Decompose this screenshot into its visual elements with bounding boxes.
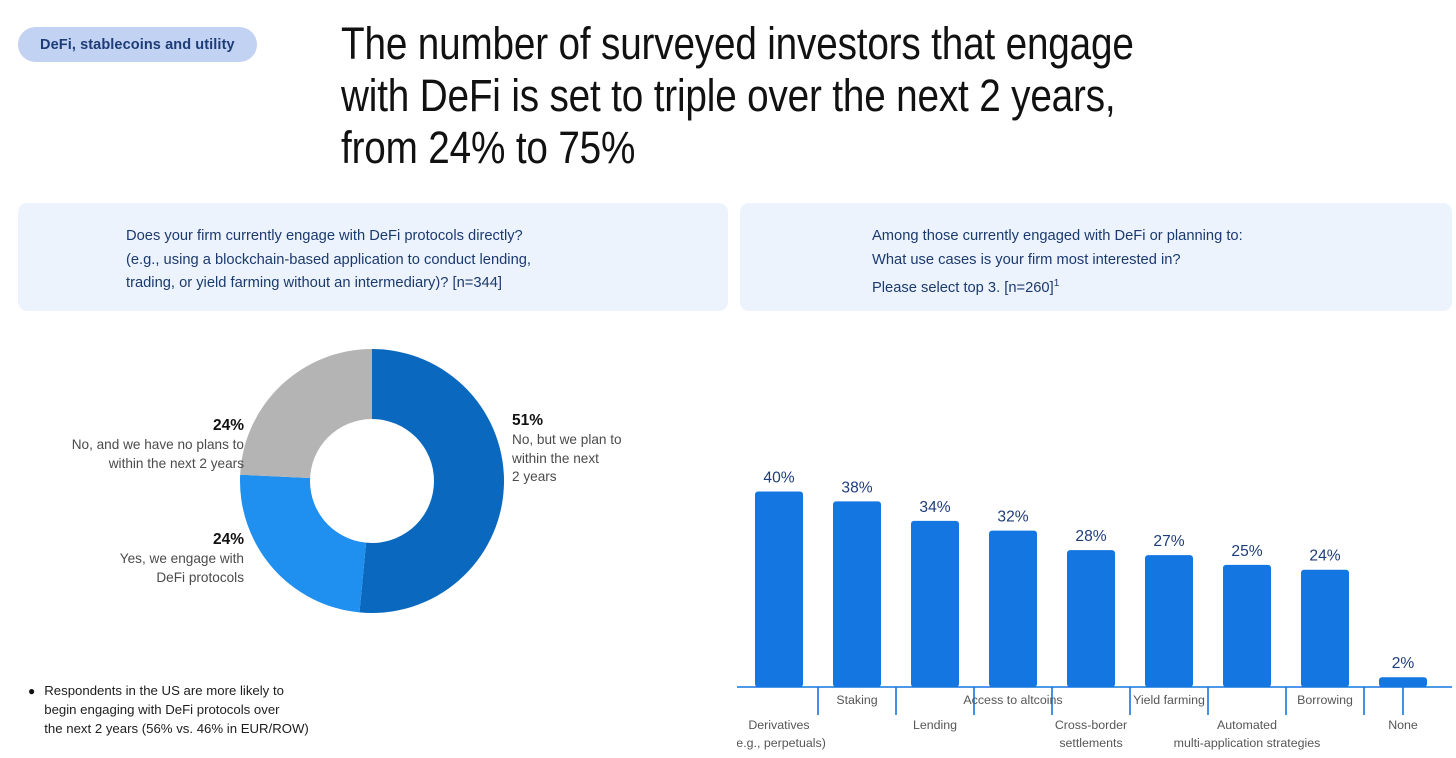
footnote-marker: 1 — [1054, 278, 1060, 289]
donut-label-no-plans-value: 24% — [12, 415, 244, 436]
donut-label-plan-to-text: No, but we plan to within the next 2 yea… — [512, 431, 672, 487]
svg-text:Automated: Automated — [1217, 718, 1277, 732]
svg-text:(e.g., perpetuals): (e.g., perpetuals) — [737, 736, 826, 750]
donut-label-plan-to: 51% No, but we plan to within the next 2… — [512, 410, 672, 487]
donut-label-yes: 24% Yes, we engage with DeFi protocols — [12, 529, 244, 587]
x-axis-category-label: Yield farming — [1133, 693, 1205, 707]
x-axis-category-label: Lending — [913, 718, 957, 732]
bar — [1301, 570, 1349, 687]
svg-text:settlements: settlements — [1059, 736, 1122, 750]
bar — [1379, 677, 1427, 687]
section-badge-label: DeFi, stablecoins and utility — [40, 37, 235, 53]
svg-text:Derivatives: Derivatives — [748, 718, 809, 732]
svg-text:None: None — [1388, 718, 1418, 732]
donut-label-no-plans: 24% No, and we have no plans to within t… — [12, 415, 244, 473]
question-box-left: Does your firm currently engage with DeF… — [18, 203, 728, 311]
question-right-line2: What use cases is your firm most interes… — [872, 252, 1181, 268]
donut-chart — [238, 347, 506, 615]
svg-text:Access to altcoins: Access to altcoins — [963, 693, 1062, 707]
x-axis-category-label: Cross-bordersettlements — [1055, 718, 1127, 750]
bar — [1145, 555, 1193, 687]
bar — [833, 501, 881, 687]
bar-value-label: 24% — [1309, 548, 1340, 565]
bar — [1223, 565, 1271, 687]
bar-chart-svg: 40%38%34%32%28%27%25%24%2% Derivatives(e… — [737, 440, 1452, 758]
bar-value-label: 28% — [1075, 528, 1106, 545]
x-axis-category-label: Borrowing — [1297, 693, 1353, 707]
x-axis-category-label: Staking — [836, 693, 877, 707]
donut-label-plan-to-value: 51% — [512, 410, 672, 431]
question-right-line3: Please select top 3. [n=260] — [872, 280, 1054, 296]
question-text-right: Among those currently engaged with DeFi … — [872, 225, 1243, 300]
bar-value-label: 40% — [763, 470, 794, 487]
insight-footnote-text: Respondents in the US are more likely to… — [44, 681, 309, 738]
bar-value-label: 34% — [919, 499, 950, 516]
insight-footnote: ● Respondents in the US are more likely … — [28, 681, 358, 738]
svg-text:Borrowing: Borrowing — [1297, 693, 1353, 707]
question-right-line1: Among those currently engaged with DeFi … — [872, 228, 1243, 244]
x-axis-category-label: Automatedmulti-application strategies — [1174, 718, 1321, 750]
slide-canvas: DeFi, stablecoins and utility The number… — [0, 0, 1456, 758]
svg-text:multi-application strategies: multi-application strategies — [1174, 736, 1321, 750]
x-axis-category-label: Derivatives(e.g., perpetuals) — [737, 718, 826, 750]
bar-chart: 40%38%34%32%28%27%25%24%2% Derivatives(e… — [737, 440, 1452, 758]
bar-value-label: 27% — [1153, 533, 1184, 550]
bar-value-label: 25% — [1231, 543, 1262, 560]
page-title: The number of surveyed investors that en… — [341, 18, 1253, 174]
donut-chart-svg — [238, 347, 506, 615]
x-axis-category-label: Access to altcoins — [963, 693, 1062, 707]
bar-value-label: 32% — [997, 509, 1028, 526]
svg-text:Lending: Lending — [913, 718, 957, 732]
question-text-left: Does your firm currently engage with DeF… — [126, 225, 531, 296]
x-axis-category-label: None — [1388, 718, 1418, 732]
bullet-icon: ● — [28, 681, 35, 738]
donut-label-no-plans-text: No, and we have no plans to within the n… — [12, 436, 244, 473]
section-badge: DeFi, stablecoins and utility — [18, 27, 257, 62]
svg-text:Yield farming: Yield farming — [1133, 693, 1205, 707]
donut-label-yes-value: 24% — [12, 529, 244, 550]
donut-label-yes-text: Yes, we engage with DeFi protocols — [12, 550, 244, 587]
bar-value-label: 38% — [841, 479, 872, 496]
bar-value-label: 2% — [1392, 655, 1415, 672]
svg-text:Cross-border: Cross-border — [1055, 718, 1127, 732]
bar — [989, 531, 1037, 687]
question-box-right: Among those currently engaged with DeFi … — [740, 203, 1452, 311]
bar — [911, 521, 959, 687]
donut-hole — [310, 419, 434, 543]
bar — [755, 492, 803, 687]
bar — [1067, 550, 1115, 687]
svg-text:Staking: Staking — [836, 693, 877, 707]
